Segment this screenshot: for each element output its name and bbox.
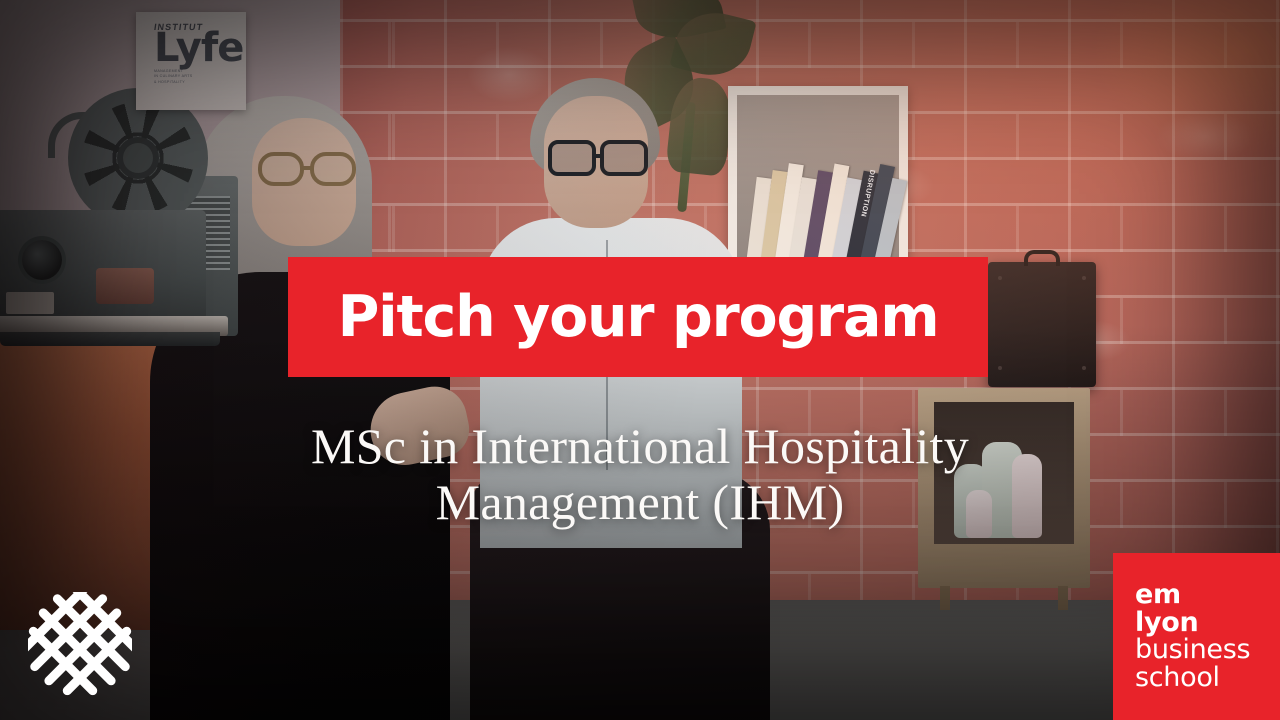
projector-feet: [0, 332, 220, 346]
program-subtitle: MSc in International Hospitality Managem…: [120, 418, 1160, 530]
subtitle-line-2: Management (IHM): [120, 474, 1160, 530]
eyeglasses-icon: [548, 140, 596, 176]
eyeglasses-icon: [600, 140, 648, 176]
emlyon-line-2: lyon: [1135, 609, 1280, 637]
emlyon-line-1: em: [1135, 581, 1280, 609]
lyfe-tagline: MANAGEMENT IN CULINARY ARTS & HOSPITALIT…: [154, 69, 220, 85]
emlyon-line-3: business: [1135, 636, 1280, 664]
woven-lattice-icon: [28, 592, 132, 696]
eyeglasses-bridge: [592, 154, 604, 158]
lyfe-wordmark: Lyfe: [154, 32, 246, 65]
video-thumbnail: DISRUPTION: [0, 0, 1280, 720]
eyeglasses-bridge: [302, 166, 314, 170]
lyfe-tagline-line: & HOSPITALITY: [154, 80, 220, 85]
suitcase-stud: [998, 366, 1002, 370]
lyfe-kicker: INSTITUT: [153, 22, 246, 32]
emlyon-logo: em lyon business school: [1113, 553, 1280, 720]
eyeglasses-icon: [258, 152, 304, 186]
projector-spool: [96, 268, 154, 304]
suitcase-icon: [988, 262, 1096, 387]
cube-shelf-leg: [940, 586, 950, 610]
projector-lens: [22, 240, 62, 280]
suitcase-stud: [998, 276, 1002, 280]
suitcase-stud: [1082, 366, 1086, 370]
cube-shelf-leg: [1058, 586, 1068, 610]
suitcase-stud: [1082, 276, 1086, 280]
suitcase-handle: [1024, 250, 1060, 266]
page-title: Pitch your program: [338, 289, 939, 346]
film-projector-icon: [0, 100, 246, 330]
book-shelf: DISRUPTION: [728, 86, 908, 281]
title-banner: Pitch your program: [288, 257, 988, 377]
projector-plate: [6, 292, 54, 314]
institut-lyfe-sign: INSTITUT Lyfe MANAGEMENT IN CULINARY ART…: [136, 12, 246, 110]
subtitle-line-1: MSc in International Hospitality: [120, 418, 1160, 474]
eyeglasses-icon: [310, 152, 356, 186]
emlyon-line-4: school: [1135, 664, 1280, 692]
